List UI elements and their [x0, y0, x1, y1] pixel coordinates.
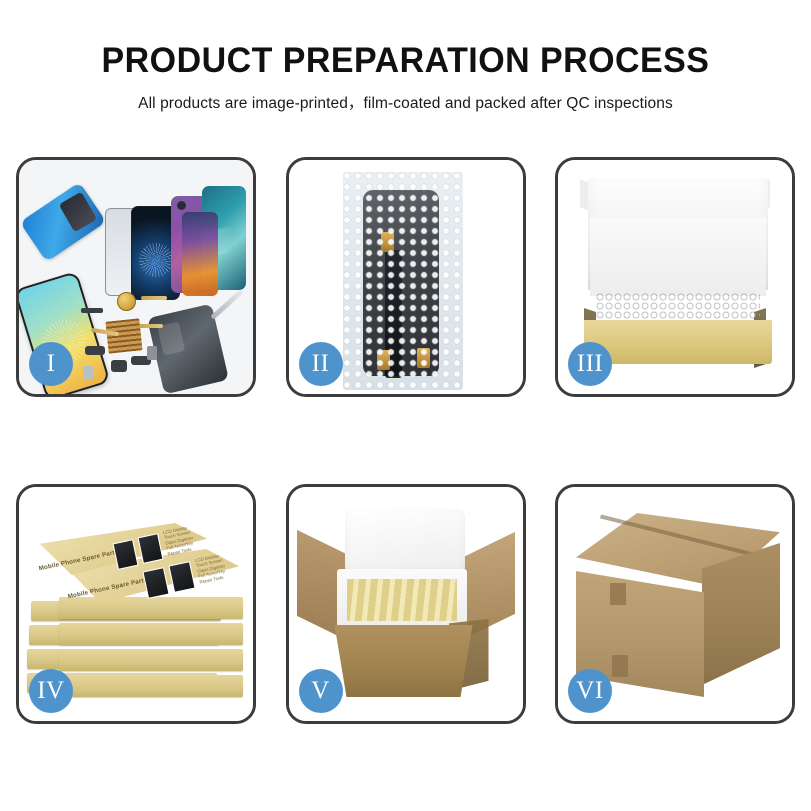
process-step-panel-3: III [555, 157, 795, 397]
chip-array-icon [105, 318, 142, 353]
small-part-icon [111, 360, 127, 372]
small-part-icon [147, 346, 157, 360]
box-spec-text: LCD DisplayTouch ScreenGlass DigitizerFu… [162, 524, 195, 556]
carton-front-icon [329, 625, 479, 697]
page-subtitle: All products are image-printed，film-coat… [0, 91, 811, 113]
packed-boxes-icon [347, 579, 457, 621]
process-step-panel-5: V [286, 484, 526, 724]
orange-phone-icon [182, 212, 218, 296]
flex-cable-icon [139, 324, 163, 328]
step-badge-2: II [299, 342, 343, 386]
process-step-panel-2: II [286, 157, 526, 397]
small-part-icon [83, 366, 93, 380]
box-front-panel-icon [584, 320, 772, 364]
step-badge-4: IV [29, 669, 73, 713]
small-part-icon [85, 346, 105, 355]
product-preparation-infographic: PRODUCT PREPARATION PROCESS All products… [0, 0, 811, 811]
step-badge-5: V [299, 669, 343, 713]
bubble-bag-icon [343, 172, 463, 390]
header: PRODUCT PREPARATION PROCESS All products… [0, 0, 811, 113]
foam-lid-icon [345, 509, 465, 575]
process-step-panel-6: VI [555, 484, 795, 724]
packing-tape-icon [610, 583, 626, 605]
process-step-panel-1: I [16, 157, 256, 397]
small-part-icon [81, 308, 103, 313]
packing-tape-icon [612, 655, 628, 677]
step-badge-3: III [568, 342, 612, 386]
page-title: PRODUCT PREPARATION PROCESS [12, 42, 799, 80]
gold-coin-component-icon [117, 292, 136, 311]
step-badge-1: I [29, 342, 73, 386]
flex-cable-icon [141, 296, 167, 300]
process-steps-grid: I II [16, 157, 795, 724]
foam-sheet-icon [590, 218, 766, 296]
box-spec-text: LCD DisplayTouch ScreenGlass DigitizerFu… [194, 552, 227, 584]
process-step-panel-4: Mobile Phone Spare Parts LCD DisplayTouc… [16, 484, 256, 724]
step-badge-6: VI [568, 669, 612, 713]
